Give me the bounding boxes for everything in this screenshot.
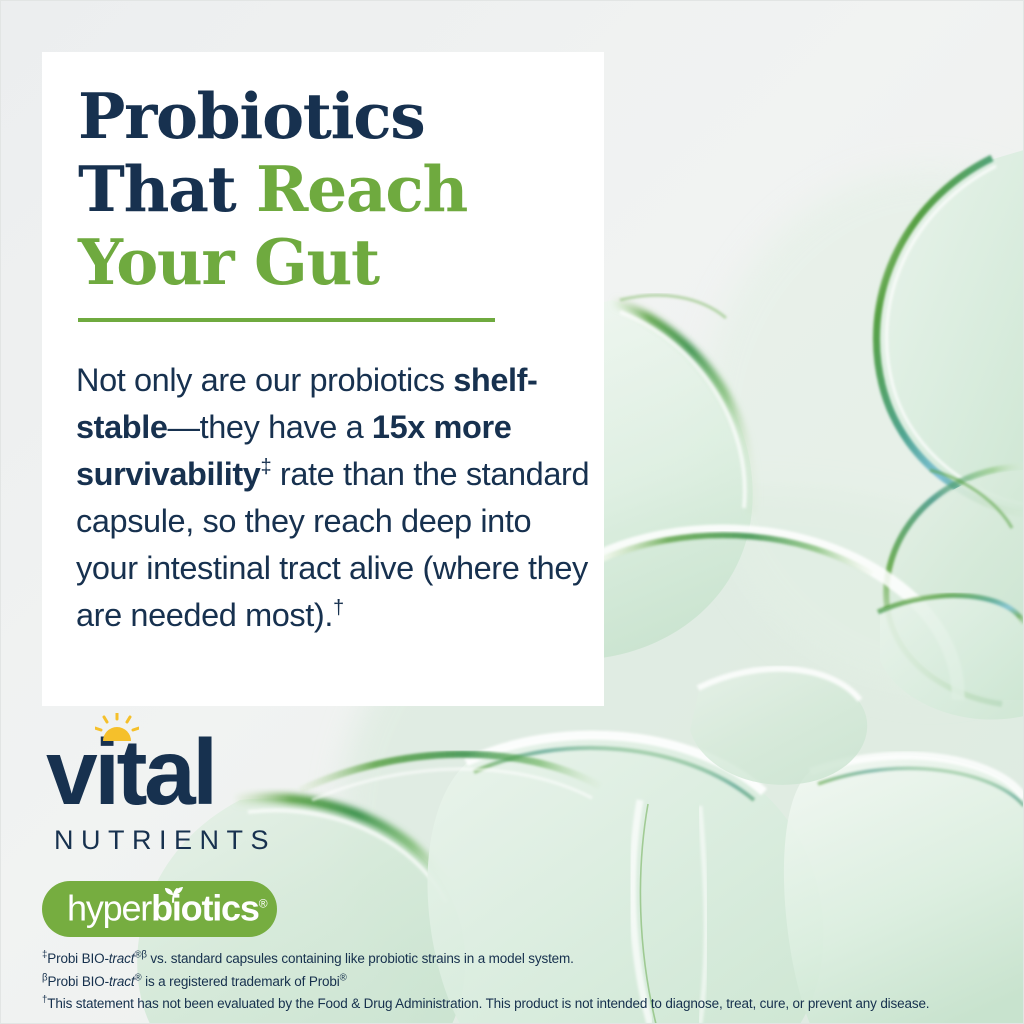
footnote-2-sup2: ® bbox=[340, 972, 347, 983]
statement-footnote-marker: † bbox=[333, 597, 344, 619]
footnote-1-sup: ®β bbox=[134, 950, 146, 961]
hyperbiotics-wordmark: hyperbiotics® bbox=[67, 890, 268, 926]
body-seg-1: Not only are our probiotics bbox=[76, 362, 453, 398]
vital-wordmark: vital bbox=[46, 726, 306, 822]
footnote-2: βProbi BIO-tract® is a registered tradem… bbox=[42, 971, 1022, 994]
biotics-bold-text: biotics bbox=[151, 887, 259, 928]
footnotes: ‡Probi BIO-tract®β vs. standard capsules… bbox=[42, 948, 1022, 1016]
footnote-2-italic: tract bbox=[109, 974, 135, 989]
sunburst-icon bbox=[95, 713, 139, 743]
page-title: Probiotics That Reach Your Gut bbox=[78, 80, 467, 299]
footnote-1-italic: tract bbox=[109, 951, 135, 966]
headline-line-3-green: Your Gut bbox=[78, 225, 379, 299]
body-copy: Not only are our probiotics shelf-stable… bbox=[76, 357, 596, 639]
survivability-footnote-marker: ‡ bbox=[260, 456, 271, 478]
headline-line-1: Probiotics bbox=[78, 79, 424, 153]
headline-line-2-green: Reach bbox=[256, 152, 467, 226]
footnote-2-sup: ® bbox=[135, 972, 142, 983]
headline-line-2-dark: That bbox=[78, 152, 256, 226]
footnote-2-a: Probi BIO- bbox=[47, 974, 109, 989]
vital-nutrients-logo: vital NUTRIENTS bbox=[46, 726, 306, 855]
footnote-3-text: This statement has not been evaluated by… bbox=[47, 996, 929, 1011]
hyperbiotics-badge[interactable]: hyperbiotics® bbox=[42, 881, 277, 937]
hyper-light-text: hyper bbox=[67, 887, 151, 928]
nutrients-text: NUTRIENTS bbox=[54, 825, 306, 855]
footnote-3: †This statement has not been evaluated b… bbox=[42, 993, 1022, 1016]
footnote-1-b: vs. standard capsules containing like pr… bbox=[147, 951, 574, 966]
footnote-1-a: Probi BIO- bbox=[47, 951, 109, 966]
footnote-1: ‡Probi BIO-tract®β vs. standard capsules… bbox=[42, 948, 1022, 971]
footnote-2-b: is a registered trademark of Probi bbox=[142, 974, 340, 989]
content-card: Probiotics That Reach Your Gut Not only … bbox=[42, 52, 604, 706]
body-seg-3: —they have a bbox=[168, 409, 372, 445]
registered-mark: ® bbox=[259, 896, 268, 910]
title-divider bbox=[78, 318, 495, 322]
